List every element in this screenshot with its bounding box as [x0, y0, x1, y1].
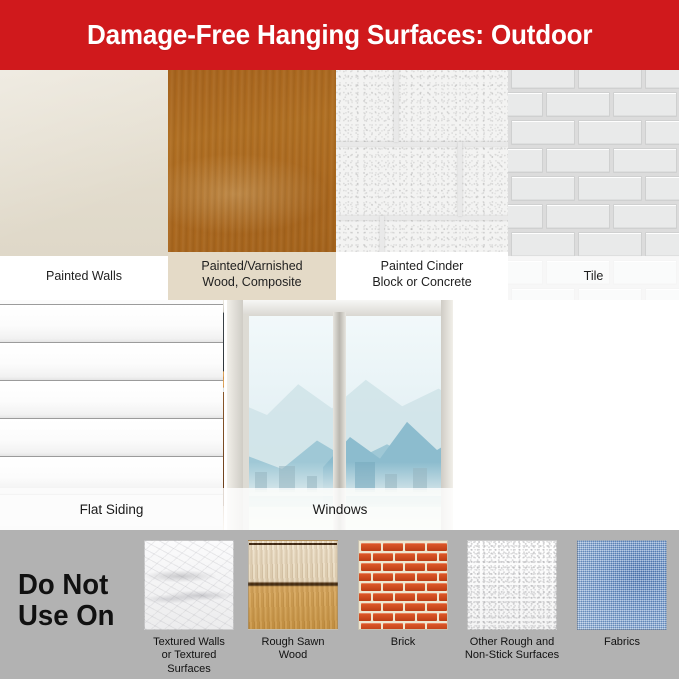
- brick-unit: [395, 553, 415, 561]
- subway-tile-unit: [511, 232, 575, 257]
- page-title: Damage-Free Hanging Surfaces: Outdoor: [87, 19, 592, 51]
- brick-unit: [361, 563, 381, 571]
- brick-unit: [358, 573, 371, 581]
- subway-tile-unit: [613, 148, 677, 173]
- subway-tile-unit: [578, 176, 642, 201]
- surface-card-painted-walls: Painted Walls: [0, 70, 168, 300]
- subway-tile-unit: [645, 232, 679, 257]
- brick-unit: [405, 583, 425, 591]
- caption-line1: Other Rough and: [464, 636, 560, 649]
- do-not-use-item-brick: Brick: [355, 540, 451, 649]
- brick-unit: [439, 553, 448, 561]
- subway-tile-unit: [511, 176, 575, 201]
- surface-label-windows: Windows: [227, 488, 453, 530]
- header-banner: Damage-Free Hanging Surfaces: Outdoor: [0, 0, 679, 70]
- brick-unit: [417, 593, 437, 601]
- caption-line1: Rough Sawn: [245, 636, 341, 649]
- brick-unit: [358, 623, 359, 630]
- surfaces-row-2: Soffits Windows: [0, 300, 679, 530]
- caption-line1: Fabrics: [574, 636, 670, 649]
- surface-label-flat-siding: Flat Siding: [0, 488, 223, 530]
- do-not-use-item-textured-walls: Textured Walls or Textured Surfaces: [141, 540, 237, 676]
- do-not-use-caption-textured-walls: Textured Walls or Textured Surfaces: [141, 636, 237, 676]
- caption-line2: Non-Stick Surfaces: [464, 649, 560, 662]
- subway-tile-unit: [546, 92, 610, 117]
- subway-tile-unit: [613, 204, 677, 229]
- do-not-use-title-line1: Do Not: [18, 570, 132, 601]
- subway-tile-unit: [645, 176, 679, 201]
- subway-tile-unit: [645, 70, 679, 89]
- brick-unit: [358, 583, 359, 591]
- brick-unit: [439, 573, 448, 581]
- textured-wall-swatch: [144, 540, 234, 630]
- brick-unit: [427, 583, 447, 591]
- brick-unit: [395, 613, 415, 621]
- cinder-mortar-joint: [458, 142, 462, 216]
- siding-plank: [0, 342, 223, 380]
- surface-label-line1: Painted/Varnished: [201, 259, 302, 275]
- brick-unit: [361, 603, 381, 611]
- siding-plank: [0, 418, 223, 456]
- brick-unit: [417, 613, 437, 621]
- brick-unit: [405, 543, 425, 551]
- brick-unit: [358, 543, 359, 551]
- subway-tile-unit: [578, 232, 642, 257]
- subway-tile-unit: [508, 92, 543, 117]
- brick-unit: [427, 603, 447, 611]
- do-not-use-caption-brick: Brick: [355, 636, 451, 649]
- brick-unit: [358, 613, 371, 621]
- brick-unit: [373, 553, 393, 561]
- surface-label-cinder-block: Painted Cinder Block or Concrete: [336, 252, 508, 300]
- surfaces-row-1: Painted Walls Painted/Varnished Wood, Co…: [0, 70, 679, 300]
- fabric-swatch: [577, 540, 667, 630]
- caption-line1: Textured Walls: [141, 636, 237, 649]
- surface-label-line1: Painted Cinder: [372, 259, 471, 275]
- surface-card-tile: Tile: [508, 70, 679, 300]
- subway-tile-unit: [508, 204, 543, 229]
- subway-tile-unit: [578, 120, 642, 145]
- brick-unit: [361, 583, 381, 591]
- subway-tile-unit: [511, 70, 575, 89]
- brick-unit: [383, 543, 403, 551]
- brick-unit: [427, 563, 447, 571]
- do-not-use-caption-rough-sawn-wood: Rough Sawn Wood: [245, 636, 341, 663]
- do-not-use-title-line2: Use On: [18, 601, 132, 632]
- subway-tile-unit: [511, 120, 575, 145]
- brick-unit: [358, 593, 371, 601]
- caption-line2: Wood: [245, 649, 341, 662]
- subway-tile-unit: [578, 70, 642, 89]
- caption-line2: or Textured Surfaces: [141, 649, 237, 676]
- brick-unit: [405, 623, 425, 630]
- surface-label-line2: Wood, Composite: [201, 275, 302, 291]
- surface-label-varnished-wood: Painted/Varnished Wood, Composite: [168, 252, 336, 300]
- brick-unit: [383, 623, 403, 630]
- subway-tile-unit: [546, 148, 610, 173]
- do-not-use-caption-rough-nonstick: Other Rough and Non-Stick Surfaces: [464, 636, 560, 663]
- brick-unit: [405, 563, 425, 571]
- surface-card-windows: Windows: [224, 300, 456, 530]
- subway-tile-unit: [645, 120, 679, 145]
- brick-unit: [383, 583, 403, 591]
- brick-unit: [383, 563, 403, 571]
- brick-unit: [358, 553, 371, 561]
- do-not-use-caption-fabrics: Fabrics: [574, 636, 670, 649]
- siding-plank: [0, 380, 223, 418]
- brick-unit: [361, 543, 381, 551]
- brick-unit: [383, 603, 403, 611]
- brick-unit: [405, 603, 425, 611]
- brick-unit: [417, 573, 437, 581]
- brick-unit: [439, 613, 448, 621]
- subway-tile-unit: [546, 204, 610, 229]
- brick-unit: [358, 563, 359, 571]
- caption-line1: Brick: [355, 636, 451, 649]
- brick-unit: [361, 623, 381, 630]
- do-not-use-item-fabrics: Fabrics: [574, 540, 670, 649]
- brick-unit: [395, 593, 415, 601]
- cinder-mortar-joint: [394, 70, 398, 142]
- subway-tile-unit: [613, 92, 677, 117]
- surface-label-painted-walls: Painted Walls: [0, 256, 168, 300]
- brick-swatch: [358, 540, 448, 630]
- do-not-use-item-rough-sawn-wood: Rough Sawn Wood: [245, 540, 341, 663]
- surface-card-cinder-block: Painted Cinder Block or Concrete: [336, 70, 508, 300]
- surface-label-line2: Block or Concrete: [372, 275, 471, 291]
- brick-unit: [373, 573, 393, 581]
- brick-unit: [427, 623, 447, 630]
- cinder-mortar-joint: [336, 142, 508, 146]
- brick-unit: [417, 553, 437, 561]
- do-not-use-item-rough-nonstick: Other Rough and Non-Stick Surfaces: [464, 540, 560, 663]
- wood-plank-edge: [249, 543, 337, 545]
- siding-plank: [0, 304, 223, 342]
- brick-unit: [395, 573, 415, 581]
- brick-unit: [439, 593, 448, 601]
- surface-label-tile: Tile: [508, 256, 679, 300]
- brick-unit: [373, 613, 393, 621]
- rough-sawn-wood-swatch: [248, 540, 338, 630]
- surface-card-flat-siding: Flat Siding: [0, 300, 223, 530]
- infographic-root: Damage-Free Hanging Surfaces: Outdoor Pa…: [0, 0, 679, 679]
- brick-unit: [358, 603, 359, 611]
- brick-unit: [427, 543, 447, 551]
- cinder-mortar-joint: [336, 216, 508, 220]
- rough-nonstick-swatch: [467, 540, 557, 630]
- do-not-use-title: Do Not Use On: [18, 570, 132, 631]
- do-not-use-section: Do Not Use On Textured Walls or Textured…: [0, 530, 679, 679]
- brick-unit: [373, 593, 393, 601]
- subway-tile-unit: [508, 148, 543, 173]
- surface-card-varnished-wood: Painted/Varnished Wood, Composite: [168, 70, 336, 300]
